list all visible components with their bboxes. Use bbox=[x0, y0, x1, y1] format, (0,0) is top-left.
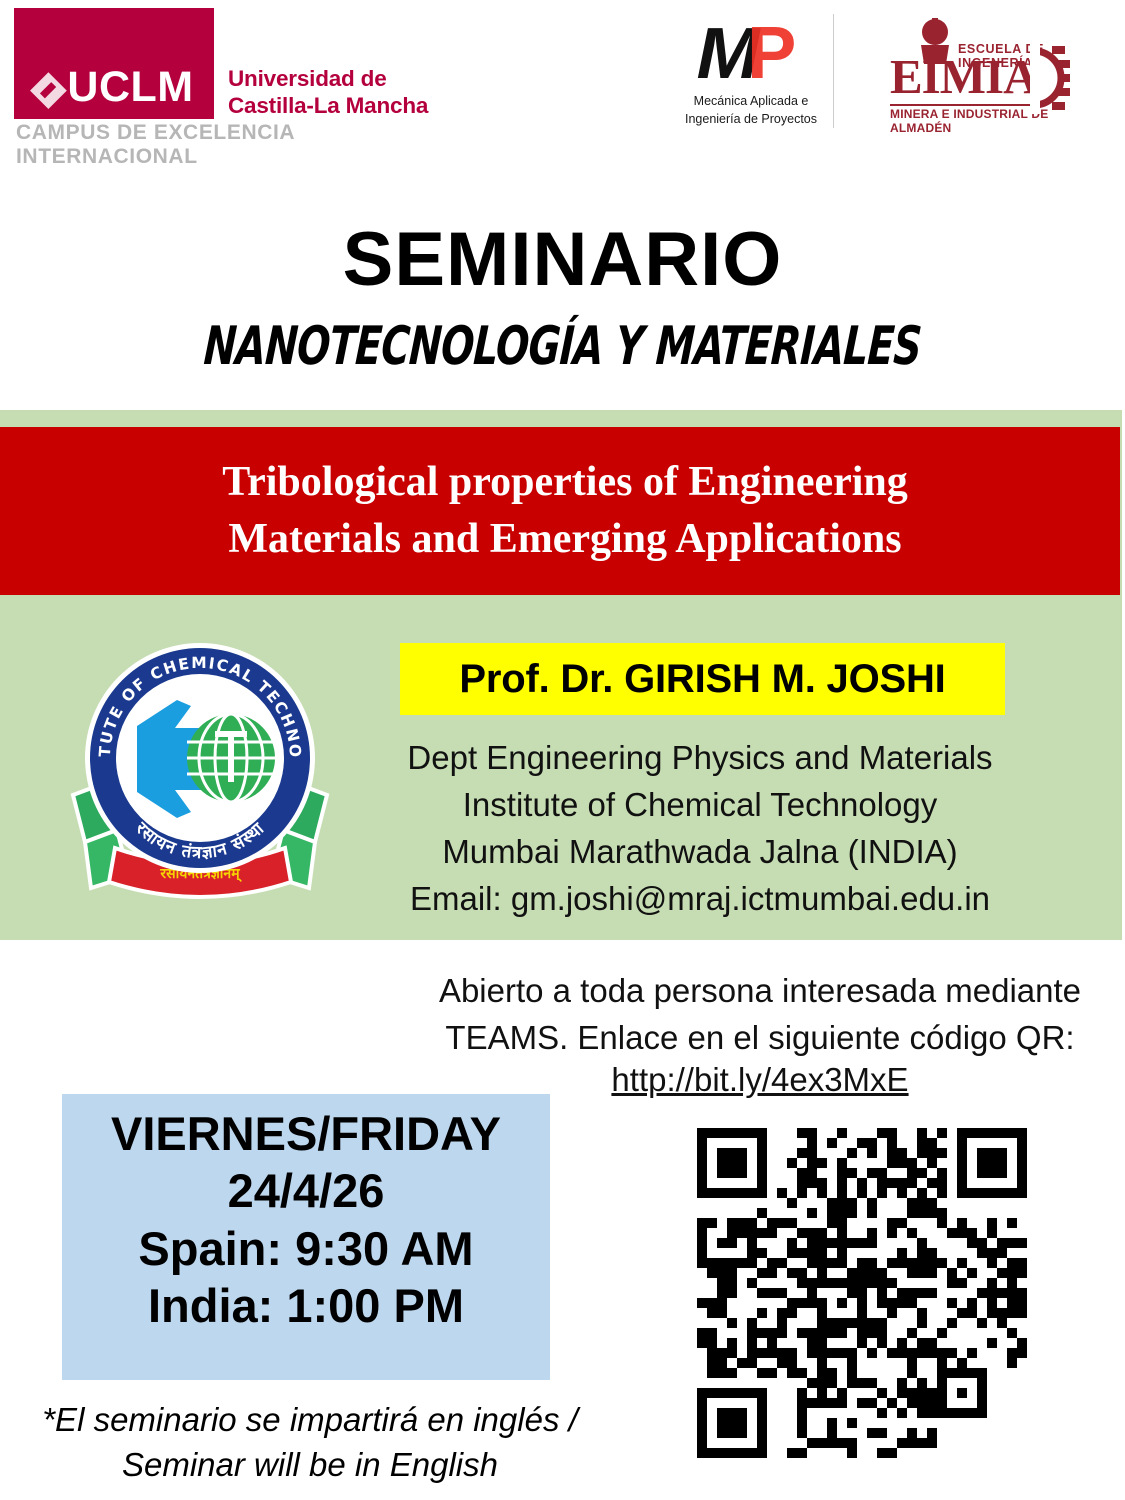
speaker-affiliation: Dept Engineering Physics and Materials I… bbox=[330, 735, 1070, 922]
logo-divider bbox=[833, 14, 834, 128]
qr-code[interactable] bbox=[697, 1128, 1027, 1458]
page-title: SEMINARIO bbox=[0, 222, 1125, 298]
uclm-logo-box: UCLM bbox=[14, 8, 214, 119]
eimia-rule bbox=[890, 104, 1045, 106]
uclm-diamond-icon bbox=[30, 72, 67, 109]
mp-logo: M P Mecánica Aplicada e Ingeniería de Pr… bbox=[676, 16, 826, 136]
seminar-poster: UCLM Universidad de Castilla-La Mancha C… bbox=[0, 0, 1125, 1500]
speaker-name: Prof. Dr. GIRISH M. JOSHI bbox=[459, 659, 945, 699]
language-note: *El seminario se impartirá en inglés / S… bbox=[0, 1398, 620, 1487]
mp-monogram-icon: M P bbox=[698, 16, 808, 88]
qr-code-image bbox=[697, 1128, 1027, 1458]
uclm-wordmark: UCLM bbox=[14, 66, 214, 109]
mp-caption: Mecánica Aplicada e Ingeniería de Proyec… bbox=[676, 92, 826, 128]
uclm-tagline: CAMPUS DE EXCELENCIA INTERNACIONAL bbox=[16, 121, 429, 169]
header-logo-bar: UCLM Universidad de Castilla-La Mancha C… bbox=[0, 0, 1125, 160]
page-subtitle: NANOTECNOLOGÍA Y MATERIALES bbox=[100, 320, 1026, 373]
eimia-logo: ESCUELA DE INGENERÍA EIMIA MINERA E INDU… bbox=[888, 18, 1070, 130]
schedule-box: VIERNES/FRIDAY 24/4/26 Spain: 9:30 AM In… bbox=[62, 1094, 550, 1380]
ict-mumbai-seal-icon: रसायनतंत्रज्ञानम् INSTITUTE OF CHEMICAL … bbox=[55, 630, 345, 915]
schedule-text: VIERNES/FRIDAY 24/4/26 Spain: 9:30 AM In… bbox=[62, 1105, 550, 1334]
speaker-name-highlight: Prof. Dr. GIRISH M. JOSHI bbox=[400, 643, 1005, 715]
gear-icon bbox=[1030, 42, 1070, 114]
uclm-university-name: Universidad de Castilla-La Mancha bbox=[228, 66, 428, 119]
talk-title: Tribological properties of Engineering M… bbox=[212, 454, 908, 567]
uclm-wordmark-text: UCLM bbox=[67, 63, 193, 111]
uclm-logo: UCLM Universidad de Castilla-La Mancha C… bbox=[14, 8, 429, 143]
talk-title-banner: Tribological properties of Engineering M… bbox=[0, 427, 1120, 595]
mp-letter-p: P bbox=[747, 16, 796, 90]
attendance-note: Abierto a toda persona interesada median… bbox=[405, 968, 1115, 1062]
eimia-acronym: EIMIA bbox=[890, 52, 1037, 101]
